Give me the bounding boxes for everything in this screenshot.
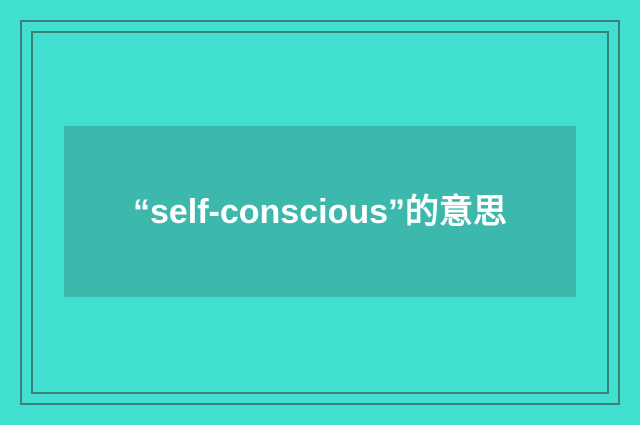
title-plate: “self-conscious”的意思 — [64, 126, 576, 297]
title-card: “self-conscious”的意思 — [0, 0, 640, 425]
page-title: “self-conscious”的意思 — [64, 186, 576, 238]
